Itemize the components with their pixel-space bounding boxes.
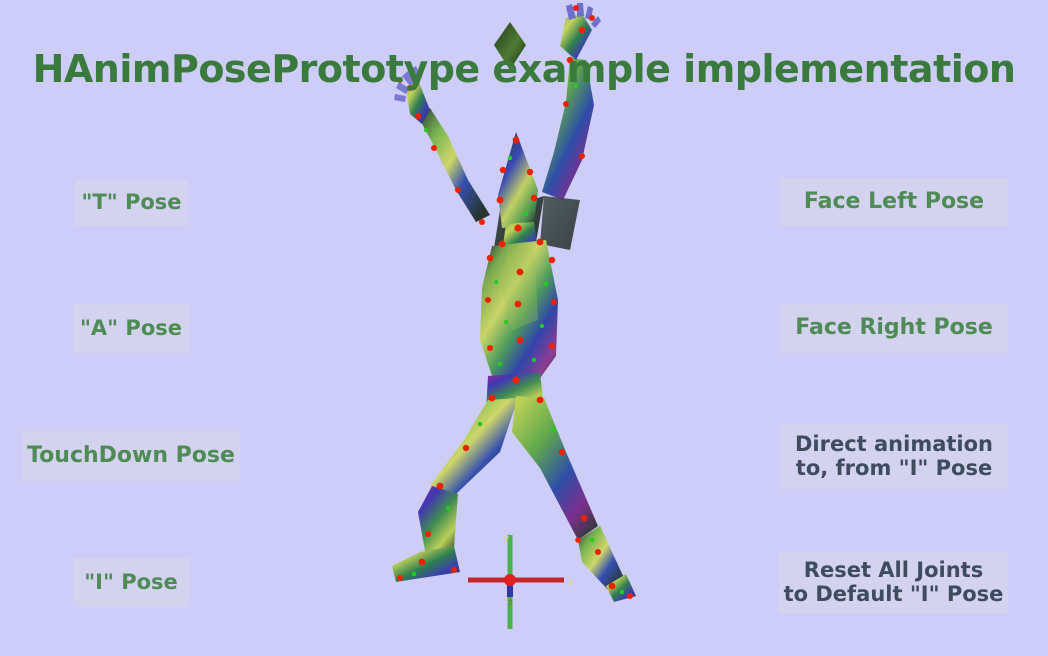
diamond-ornament-icon	[494, 22, 526, 70]
direct-animation-line1: Direct animation	[795, 432, 993, 456]
face-right-pose-button[interactable]: Face Right Pose	[780, 304, 1008, 353]
humanoid-figure[interactable]	[330, 0, 730, 620]
thigh-left	[430, 398, 518, 494]
a-pose-button[interactable]: "A" Pose	[73, 304, 189, 353]
torso-highlight	[502, 250, 538, 330]
segment-markers	[412, 84, 624, 594]
t-pose-label: "T" Pose	[75, 191, 188, 215]
reset-all-joints-line2: to Default "I" Pose	[779, 583, 1008, 607]
face-left-pose-button[interactable]: Face Left Pose	[780, 178, 1008, 226]
z-axis-marker	[507, 585, 513, 597]
coordinate-axes-gizmo: x y z	[452, 533, 582, 638]
hand-left	[406, 80, 430, 124]
face-left-pose-label: Face Left Pose	[780, 190, 1008, 215]
i-pose-button[interactable]: "I" Pose	[73, 558, 189, 607]
touchdown-pose-label: TouchDown Pose	[22, 444, 240, 469]
x3d-scene-viewport[interactable]: x y z HAnimPosePrototype example impleme…	[0, 0, 1048, 656]
reset-all-joints-label: Reset All Joints to Default "I" Pose	[779, 559, 1008, 606]
head	[498, 132, 538, 228]
shoulder-shadow-left	[494, 196, 544, 248]
page-title: HAnimPosePrototype example implementatio…	[0, 47, 1048, 91]
neck	[502, 222, 538, 252]
direct-animation-button[interactable]: Direct animation to, from "I" Pose	[780, 424, 1008, 489]
pelvis	[486, 372, 544, 412]
face-right-pose-label: Face Right Pose	[780, 316, 1008, 341]
direct-animation-label: Direct animation to, from "I" Pose	[780, 433, 1008, 480]
hand-right	[560, 14, 592, 60]
shin-right	[578, 526, 624, 592]
torso	[480, 240, 558, 392]
fingers-right	[566, 3, 601, 28]
touchdown-pose-button[interactable]: TouchDown Pose	[22, 431, 240, 481]
x-axis-label: x	[568, 578, 574, 588]
reset-all-joints-button[interactable]: Reset All Joints to Default "I" Pose	[779, 552, 1008, 614]
i-pose-label: "I" Pose	[73, 571, 189, 595]
reset-all-joints-line1: Reset All Joints	[804, 558, 983, 582]
arm-upper-left	[418, 108, 490, 222]
shin-left	[418, 486, 458, 556]
humanoid-figure-render	[330, 0, 730, 620]
z-axis-label: z	[508, 598, 513, 608]
coordinate-axes-render: x y z	[452, 533, 582, 638]
direct-animation-line2: to, from "I" Pose	[780, 457, 1008, 481]
thigh-right	[512, 396, 598, 540]
a-pose-label: "A" Pose	[73, 317, 189, 341]
y-axis-label: y	[504, 534, 510, 544]
shoulder-shadow-right	[540, 196, 580, 250]
foot-left	[392, 546, 460, 582]
joint-markers	[397, 5, 633, 599]
t-pose-button[interactable]: "T" Pose	[75, 180, 188, 226]
arm-upper-right	[542, 58, 594, 200]
foot-right	[606, 574, 636, 602]
origin-marker	[504, 574, 516, 586]
fingers-left	[394, 66, 422, 102]
